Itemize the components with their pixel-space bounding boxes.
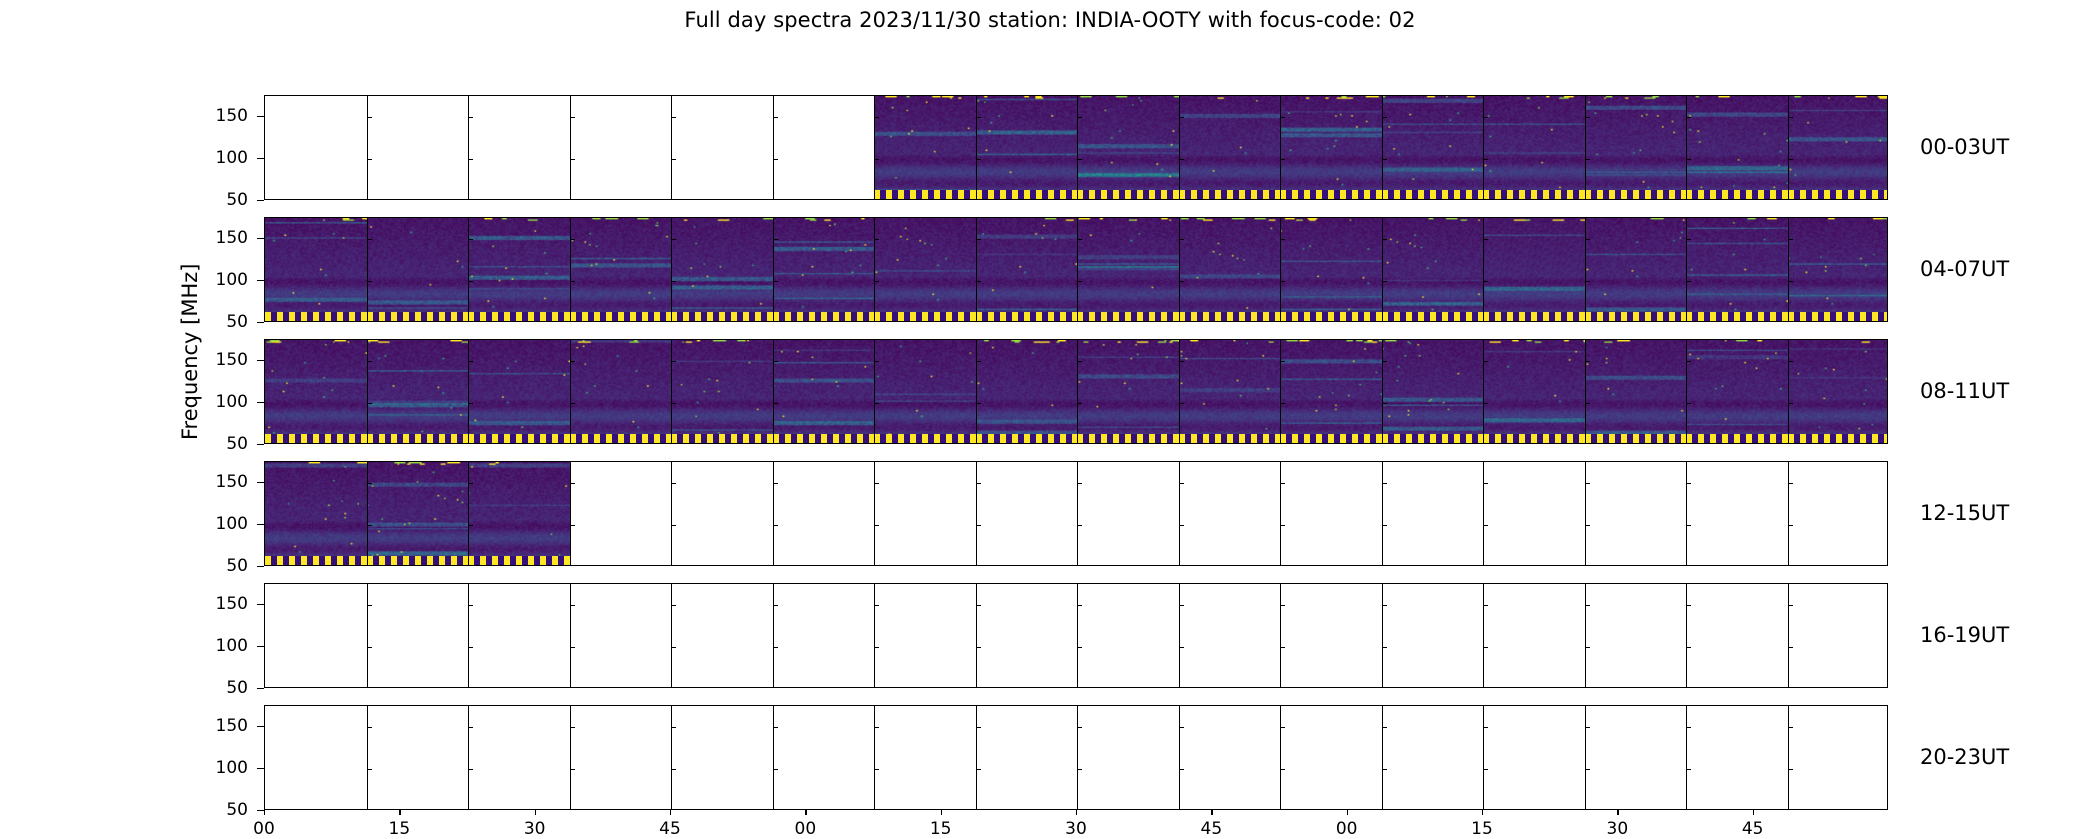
saturation-strip [1585, 434, 1687, 443]
y-tick-inner [1179, 239, 1184, 240]
y-tick [257, 360, 264, 361]
y-tick-inner [1077, 361, 1082, 362]
spectrogram-subpanel [1382, 340, 1484, 443]
y-tick-inner [1077, 281, 1082, 282]
y-tick-inner [976, 483, 981, 484]
y-tick-inner [874, 239, 879, 240]
x-tick-label: 15 [911, 819, 971, 839]
y-tick [257, 444, 264, 445]
y-tick-inner [1280, 647, 1285, 648]
y-tick-inner [976, 117, 981, 118]
spectrogram-subpanel [976, 340, 1078, 443]
saturation-strip [468, 312, 570, 321]
y-tick-inner [874, 117, 879, 118]
spectrogram-subpanel [671, 340, 773, 443]
y-tick-inner [1483, 159, 1488, 160]
y-tick-inner [1179, 647, 1184, 648]
saturation-strip [1280, 434, 1382, 443]
y-tick-inner [1280, 361, 1285, 362]
y-tick-label: 100 [188, 148, 248, 168]
y-tick-inner [367, 361, 372, 362]
y-tick-inner [773, 769, 778, 770]
saturation-strip [976, 312, 1078, 321]
y-tick-inner [1788, 769, 1793, 770]
spectrogram-subpanel [1179, 218, 1281, 321]
y-tick-label: 150 [188, 472, 248, 492]
saturation-strip [367, 556, 469, 565]
y-tick-inner [671, 361, 676, 362]
y-tick-inner [468, 769, 473, 770]
spectrogram-row-00-03ut[interactable]: 15010050 [264, 95, 1888, 200]
y-tick-inner [773, 647, 778, 648]
y-tick-inner [570, 281, 575, 282]
x-tick [535, 810, 536, 815]
x-tick [1753, 810, 1754, 815]
y-tick-label: 50 [188, 434, 248, 454]
y-tick-inner [1686, 727, 1691, 728]
y-tick-inner [1585, 117, 1590, 118]
y-tick-inner [976, 769, 981, 770]
x-tick [1211, 810, 1212, 815]
y-tick-inner [773, 117, 778, 118]
y-tick-inner [671, 727, 676, 728]
y-tick-inner [1483, 647, 1488, 648]
y-tick-inner [468, 361, 473, 362]
y-tick-inner [773, 159, 778, 160]
saturation-strip [874, 190, 976, 199]
y-tick-inner [1788, 605, 1793, 606]
spectrogram-subpanel [367, 462, 469, 565]
y-tick-inner [367, 281, 372, 282]
x-tick-label: 00 [775, 819, 835, 839]
row-label-20-23ut: 20-23UT [1920, 745, 2009, 769]
row-label-08-11ut: 08-11UT [1920, 379, 2009, 403]
y-tick-inner [570, 403, 575, 404]
y-tick-inner [1585, 483, 1590, 484]
y-tick-inner [1686, 483, 1691, 484]
y-tick-inner [1686, 647, 1691, 648]
y-tick-inner [1483, 281, 1488, 282]
y-tick-inner [1483, 605, 1488, 606]
y-tick-inner [1483, 525, 1488, 526]
y-tick-inner [1077, 647, 1082, 648]
y-tick-inner [1585, 727, 1590, 728]
y-tick-inner [468, 159, 473, 160]
plot-axes [264, 705, 1888, 810]
saturation-strip [1686, 434, 1788, 443]
spectrogram-subpanel [367, 340, 469, 443]
y-tick-inner [1382, 769, 1387, 770]
y-tick-inner [367, 239, 372, 240]
saturation-strip [468, 434, 570, 443]
saturation-strip [1280, 190, 1382, 199]
y-tick-inner [773, 605, 778, 606]
y-tick-label: 100 [188, 636, 248, 656]
y-tick-inner [671, 403, 676, 404]
y-tick [257, 688, 264, 689]
y-tick-inner [1382, 647, 1387, 648]
spectrogram-subpanel [1280, 218, 1382, 321]
spectrogram-subpanel [773, 340, 875, 443]
y-tick-inner [468, 239, 473, 240]
y-tick-inner [1382, 239, 1387, 240]
y-tick-inner [1179, 483, 1184, 484]
spectrogram-subpanel [1179, 96, 1281, 199]
saturation-strip [570, 434, 672, 443]
saturation-strip [570, 312, 672, 321]
y-tick-inner [773, 483, 778, 484]
y-tick-inner [1788, 117, 1793, 118]
spectrogram-row-04-07ut[interactable]: 15010050 [264, 217, 1888, 322]
y-tick-inner [1280, 525, 1285, 526]
y-tick [257, 646, 264, 647]
y-tick-inner [468, 605, 473, 606]
saturation-strip [773, 434, 875, 443]
saturation-strip [671, 434, 773, 443]
spectrogram-subpanel [1077, 340, 1179, 443]
spectrogram-subpanel [1585, 340, 1687, 443]
y-tick-label: 150 [188, 594, 248, 614]
y-tick-inner [570, 525, 575, 526]
y-tick-inner [773, 239, 778, 240]
y-tick-inner [468, 281, 473, 282]
y-tick-inner [1382, 727, 1387, 728]
y-tick-inner [1179, 525, 1184, 526]
y-tick [257, 116, 264, 117]
spectrogram-subpanel [367, 218, 469, 321]
y-tick [257, 768, 264, 769]
spectrogram-row-12-15ut[interactable]: 15010050 [264, 461, 1888, 566]
y-tick [257, 726, 264, 727]
row-label-04-07ut: 04-07UT [1920, 257, 2009, 281]
y-tick-label: 150 [188, 106, 248, 126]
spectrogram-subpanel [468, 340, 570, 443]
saturation-strip [874, 434, 976, 443]
x-tick [1347, 810, 1348, 815]
y-tick-inner [1382, 281, 1387, 282]
spectrogram-subpanel [1686, 96, 1788, 199]
y-tick-inner [1686, 403, 1691, 404]
saturation-strip [1788, 434, 1889, 443]
y-tick-inner [874, 281, 879, 282]
y-tick-inner [1483, 117, 1488, 118]
y-tick-inner [1382, 361, 1387, 362]
y-tick-inner [671, 239, 676, 240]
spectrogram-subpanel [1483, 96, 1585, 199]
y-tick-inner [1686, 769, 1691, 770]
y-tick-label: 150 [188, 228, 248, 248]
y-tick-inner [1280, 769, 1285, 770]
y-tick-inner [874, 403, 879, 404]
y-tick-inner [1585, 239, 1590, 240]
y-tick-inner [1179, 159, 1184, 160]
y-tick-inner [671, 281, 676, 282]
x-tick [1482, 810, 1483, 815]
spectrogram-subpanel [976, 218, 1078, 321]
x-tick-label: 00 [1317, 819, 1377, 839]
saturation-strip [265, 556, 367, 565]
spectrogram-subpanel [468, 218, 570, 321]
y-tick-inner [1686, 605, 1691, 606]
y-tick-inner [1585, 281, 1590, 282]
y-tick-inner [570, 769, 575, 770]
spectrogram-subpanel [874, 96, 976, 199]
y-tick-inner [874, 727, 879, 728]
figure-title: Full day spectra 2023/11/30 station: IND… [0, 8, 2100, 32]
y-tick-label: 100 [188, 270, 248, 290]
y-tick-label: 50 [188, 678, 248, 698]
y-tick-inner [367, 727, 372, 728]
y-tick-inner [1179, 361, 1184, 362]
y-tick-inner [1280, 727, 1285, 728]
y-tick-inner [671, 525, 676, 526]
y-tick-inner [1686, 361, 1691, 362]
y-tick-inner [1788, 159, 1793, 160]
y-tick-inner [1280, 159, 1285, 160]
y-tick-inner [1585, 525, 1590, 526]
y-tick-inner [874, 647, 879, 648]
saturation-strip [1382, 434, 1484, 443]
y-tick-inner [1483, 239, 1488, 240]
x-tick [1076, 810, 1077, 815]
y-tick-inner [1788, 281, 1793, 282]
subpanel-dividers [265, 706, 1887, 809]
x-tick-label: 45 [640, 819, 700, 839]
spectrogram-subpanel [773, 218, 875, 321]
y-tick-inner [1585, 159, 1590, 160]
y-tick-label: 50 [188, 556, 248, 576]
y-tick-inner [671, 483, 676, 484]
y-tick-inner [1788, 403, 1793, 404]
spectrogram-subpanel [1788, 96, 1889, 199]
spectrogram-row-20-23ut[interactable]: 15010050 [264, 705, 1888, 810]
y-tick-inner [1585, 605, 1590, 606]
spectrogram-subpanel [570, 340, 672, 443]
saturation-strip [1585, 190, 1687, 199]
y-tick-inner [570, 361, 575, 362]
y-tick-inner [367, 117, 372, 118]
y-tick-inner [1585, 769, 1590, 770]
y-tick-inner [671, 159, 676, 160]
y-tick-inner [570, 239, 575, 240]
spectrogram-subpanel [874, 340, 976, 443]
y-tick-inner [976, 647, 981, 648]
y-tick-inner [367, 403, 372, 404]
y-tick-inner [1788, 525, 1793, 526]
spectrogram-subpanel [1788, 218, 1889, 321]
y-tick [257, 604, 264, 605]
y-tick-inner [570, 483, 575, 484]
y-tick [257, 280, 264, 281]
y-tick-inner [671, 769, 676, 770]
y-tick-inner [1585, 361, 1590, 362]
y-tick-inner [1179, 727, 1184, 728]
saturation-strip [468, 556, 570, 565]
y-tick-inner [1077, 239, 1082, 240]
saturation-strip [1280, 312, 1382, 321]
y-tick-inner [1382, 483, 1387, 484]
spectrogram-subpanel [468, 462, 570, 565]
spectrogram-subpanel [1382, 218, 1484, 321]
y-tick-inner [1280, 403, 1285, 404]
y-tick-inner [1382, 403, 1387, 404]
y-tick-inner [976, 403, 981, 404]
y-tick-inner [976, 361, 981, 362]
y-tick-inner [1686, 117, 1691, 118]
y-tick-inner [1788, 361, 1793, 362]
spectrogram-subpanel [1686, 218, 1788, 321]
y-tick-inner [1483, 403, 1488, 404]
y-tick-inner [367, 647, 372, 648]
saturation-strip [671, 312, 773, 321]
saturation-strip [1179, 312, 1281, 321]
row-label-12-15ut: 12-15UT [1920, 501, 2009, 525]
y-tick-inner [1483, 483, 1488, 484]
y-tick-inner [1179, 281, 1184, 282]
spectrogram-subpanel [1483, 340, 1585, 443]
x-tick-label: 00 [234, 819, 294, 839]
y-tick-inner [874, 361, 879, 362]
spectrogram-row-08-11ut[interactable]: 15010050 [264, 339, 1888, 444]
x-tick [670, 810, 671, 815]
x-tick-label: 15 [369, 819, 429, 839]
x-tick-label: 45 [1723, 819, 1783, 839]
spectrogram-row-16-19ut[interactable]: 15010050 [264, 583, 1888, 688]
x-tick [264, 810, 265, 815]
saturation-strip [874, 312, 976, 321]
y-tick-inner [1788, 239, 1793, 240]
y-tick-label: 150 [188, 716, 248, 736]
saturation-strip [367, 434, 469, 443]
spectrogram-figure: Full day spectra 2023/11/30 station: IND… [0, 0, 2100, 800]
saturation-strip [773, 312, 875, 321]
x-tick-label: 30 [1587, 819, 1647, 839]
subpanel-dividers [265, 584, 1887, 687]
y-tick-inner [874, 769, 879, 770]
plot-axes [264, 95, 1888, 200]
y-tick-inner [367, 605, 372, 606]
y-tick-inner [570, 647, 575, 648]
y-tick-inner [570, 117, 575, 118]
plot-axes [264, 583, 1888, 688]
y-tick-inner [1483, 361, 1488, 362]
y-tick-inner [570, 605, 575, 606]
y-tick-inner [671, 647, 676, 648]
y-tick-inner [1179, 117, 1184, 118]
y-tick [257, 482, 264, 483]
spectrogram-subpanel [874, 218, 976, 321]
x-tick [805, 810, 806, 815]
y-tick-inner [1077, 159, 1082, 160]
saturation-strip [265, 312, 367, 321]
y-tick-inner [1686, 525, 1691, 526]
y-tick-inner [1077, 525, 1082, 526]
y-tick-inner [468, 117, 473, 118]
saturation-strip [367, 312, 469, 321]
y-tick-label: 100 [188, 514, 248, 534]
saturation-strip [976, 434, 1078, 443]
y-tick-inner [773, 403, 778, 404]
saturation-strip [1483, 190, 1585, 199]
y-tick-inner [468, 403, 473, 404]
spectrogram-subpanel [1077, 218, 1179, 321]
y-tick-inner [468, 525, 473, 526]
x-tick-label: 30 [505, 819, 565, 839]
y-tick-inner [671, 117, 676, 118]
y-tick-inner [1382, 605, 1387, 606]
y-tick-inner [1382, 159, 1387, 160]
saturation-strip [1788, 190, 1889, 199]
spectrogram-subpanel [1077, 96, 1179, 199]
y-tick-inner [1280, 605, 1285, 606]
y-tick-inner [976, 239, 981, 240]
y-tick-inner [773, 525, 778, 526]
y-tick-inner [976, 605, 981, 606]
y-tick-inner [976, 159, 981, 160]
y-tick-inner [1077, 605, 1082, 606]
spectrogram-subpanel [1585, 96, 1687, 199]
spectrogram-subpanel [1280, 96, 1382, 199]
y-tick-inner [367, 483, 372, 484]
y-tick-inner [874, 483, 879, 484]
saturation-strip [1382, 190, 1484, 199]
saturation-strip [1788, 312, 1889, 321]
y-tick-inner [874, 525, 879, 526]
y-tick-inner [1280, 239, 1285, 240]
y-tick-inner [976, 281, 981, 282]
row-label-16-19ut: 16-19UT [1920, 623, 2009, 647]
y-tick-inner [1585, 403, 1590, 404]
spectrogram-subpanel [1179, 340, 1281, 443]
x-tick-label: 30 [1046, 819, 1106, 839]
row-label-00-03ut: 00-03UT [1920, 135, 2009, 159]
spectrogram-subpanel [265, 462, 367, 565]
y-tick-inner [1077, 117, 1082, 118]
y-tick-inner [1483, 769, 1488, 770]
y-tick-label: 150 [188, 350, 248, 370]
x-tick [1617, 810, 1618, 815]
spectrogram-subpanel [265, 218, 367, 321]
y-tick-inner [570, 727, 575, 728]
spectrogram-subpanel [1280, 340, 1382, 443]
y-tick-inner [874, 159, 879, 160]
y-tick-label: 100 [188, 758, 248, 778]
y-tick [257, 566, 264, 567]
plot-axes [264, 461, 1888, 566]
y-tick-inner [1077, 483, 1082, 484]
y-tick [257, 322, 264, 323]
spectrogram-subpanel [671, 218, 773, 321]
y-tick-label: 50 [188, 800, 248, 820]
y-tick-label: 50 [188, 312, 248, 332]
y-tick-inner [1585, 647, 1590, 648]
y-tick-inner [1788, 727, 1793, 728]
y-tick [257, 524, 264, 525]
x-tick-label: 15 [1452, 819, 1512, 839]
y-tick-inner [468, 727, 473, 728]
saturation-strip [1483, 434, 1585, 443]
y-tick [257, 158, 264, 159]
saturation-strip [1179, 190, 1281, 199]
y-tick-inner [367, 525, 372, 526]
saturation-strip [265, 434, 367, 443]
spectrogram-subpanel [1382, 96, 1484, 199]
y-tick-inner [1280, 483, 1285, 484]
spectrogram-subpanel [265, 340, 367, 443]
saturation-strip [1077, 312, 1179, 321]
y-tick-inner [671, 605, 676, 606]
y-tick-inner [1280, 281, 1285, 282]
